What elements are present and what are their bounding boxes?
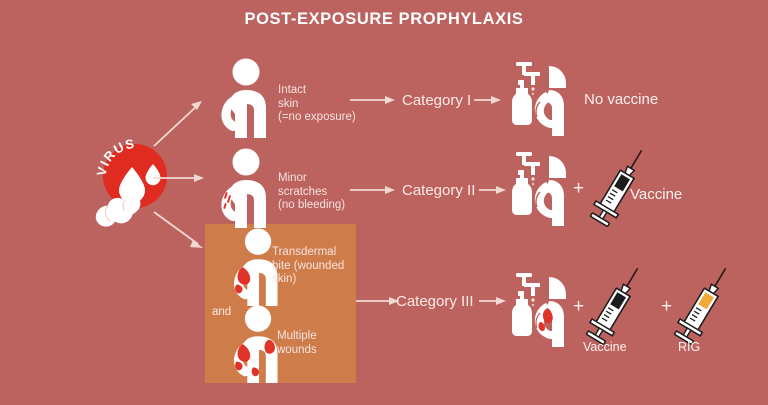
- category-2-label: Category II: [402, 182, 475, 199]
- person-minor-scratches-icon: [216, 148, 278, 228]
- handwashing-icon: [504, 58, 570, 136]
- category-1-outcome: No vaccine: [584, 91, 658, 108]
- handwashing-wounded-icon: [504, 268, 570, 348]
- syringe-rig-icon: [676, 266, 730, 346]
- page-title: POST-EXPOSURE PROPHYLAXIS: [0, 10, 768, 29]
- arrow-category-1-to-treatment: [474, 92, 508, 108]
- person-intact-skin-icon: [216, 58, 278, 138]
- handwashing-icon: [504, 148, 570, 226]
- branch-arrows: [152, 92, 222, 252]
- category-3-label: Category III: [396, 293, 474, 310]
- category-3-plus-1: +: [573, 296, 584, 318]
- category-3-exposure-label-a: Transdermal bite (wounded skin): [272, 246, 364, 287]
- arrow-to-category-3: [154, 212, 203, 248]
- category-3-exposure-label-b: Multiple wounds: [277, 330, 349, 357]
- arrow-category-1-to-label: [350, 92, 400, 108]
- arrow-to-category-2: [154, 174, 204, 182]
- category-2-plus: +: [573, 178, 584, 200]
- syringe-vaccine-icon: [588, 266, 642, 346]
- category-3-rig-label: RIG: [678, 340, 700, 354]
- category-2-vaccine-label: Vaccine: [630, 186, 682, 203]
- category-3-plus-2: +: [661, 296, 672, 318]
- arrow-to-category-1: [154, 101, 202, 146]
- arrow-category-2-to-label: [350, 182, 400, 198]
- category-1-label: Category I: [402, 92, 471, 109]
- infographic-canvas: POST-EXPOSURE PROPHYLAXIS VIRUS: [0, 0, 768, 405]
- category-3-vaccine-label: Vaccine: [583, 340, 627, 354]
